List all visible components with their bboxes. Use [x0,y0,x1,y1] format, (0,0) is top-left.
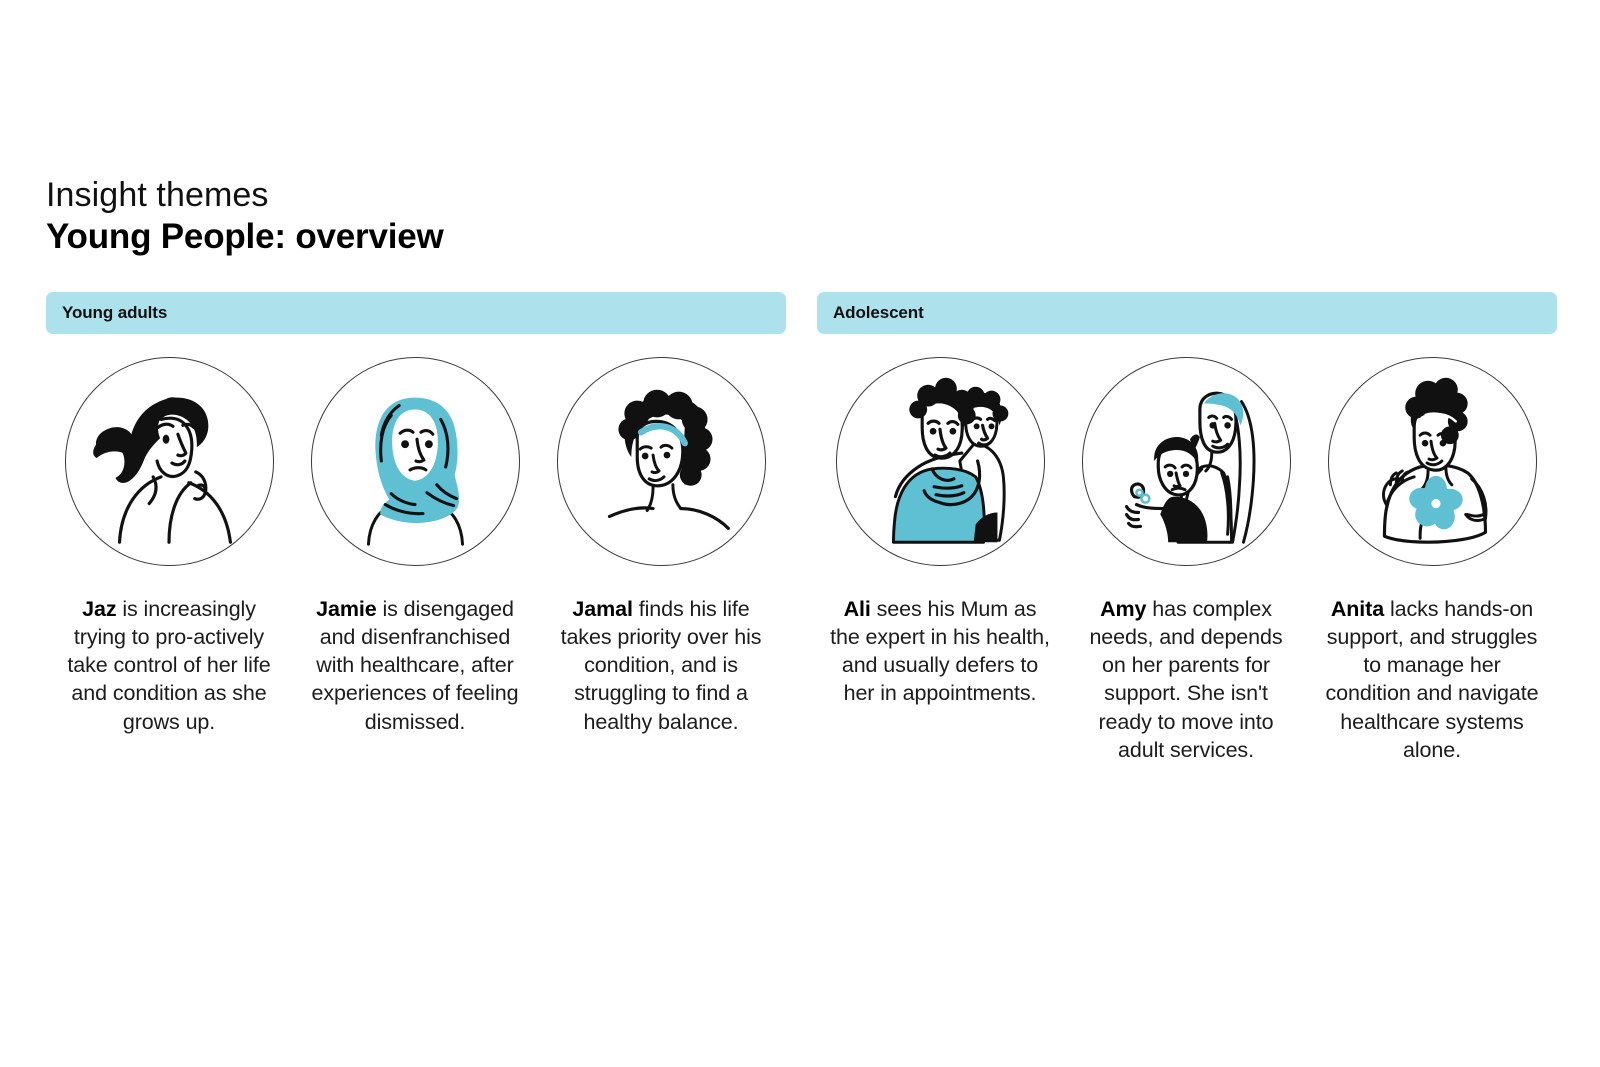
persona-card-amy[interactable]: Amy has complex needs, and depends on he… [1063,357,1309,764]
group-header-adolescent: Adolescent [817,292,1557,334]
caption-anita: Anita lacks hands-on support, and strugg… [1321,595,1543,764]
mother-and-child-avatar-icon [1083,358,1290,565]
persona-name: Ali [844,597,871,621]
persona-description: lacks hands-on support, and struggles to… [1326,597,1539,762]
person-afro-headband-avatar-icon [558,358,765,565]
caption-ali: Ali sees his Mum as the expert in his he… [829,595,1051,708]
caption-jaz: Jaz is increasingly trying to pro-active… [58,595,280,736]
eyebrow-title: Insight themes [46,176,444,214]
avatar-anita [1328,357,1537,566]
group-label: Adolescent [833,303,924,323]
persona-card-ali[interactable]: Ali sees his Mum as the expert in his he… [817,357,1063,764]
page-title-block: Insight themes Young People: overview [46,176,444,256]
woman-bun-flower-top-avatar-icon [1329,358,1536,565]
persona-card-jaz[interactable]: Jaz is increasingly trying to pro-active… [46,357,292,736]
group-young-adults: Young adults [46,292,786,736]
page-title: Young People: overview [46,217,444,256]
card-row-young-adults: Jaz is increasingly trying to pro-active… [46,357,786,736]
persona-name: Anita [1331,597,1384,621]
woman-long-wavy-hair-avatar-icon [66,358,273,565]
parent-and-child-hug-avatar-icon [837,358,1044,565]
persona-name: Jamie [316,597,376,621]
caption-jamal: Jamal finds his life takes priority over… [550,595,772,736]
caption-amy: Amy has complex needs, and depends on he… [1075,595,1297,764]
group-header-young-adults: Young adults [46,292,786,334]
avatar-amy [1082,357,1291,566]
persona-name: Jaz [82,597,116,621]
avatar-jaz [65,357,274,566]
persona-name: Amy [1100,597,1146,621]
card-row-adolescent: Ali sees his Mum as the expert in his he… [817,357,1557,764]
group-adolescent: Adolescent [817,292,1557,764]
woman-hijab-avatar-icon [312,358,519,565]
caption-jamie: Jamie is disengaged and disenfranchised … [304,595,526,736]
avatar-jamal [557,357,766,566]
group-label: Young adults [62,303,167,323]
persona-description: has complex needs, and depends on her pa… [1089,597,1282,762]
avatar-ali [836,357,1045,566]
persona-name: Jamal [572,597,632,621]
persona-card-anita[interactable]: Anita lacks hands-on support, and strugg… [1309,357,1555,764]
persona-card-jamie[interactable]: Jamie is disengaged and disenfranchised … [292,357,538,736]
persona-card-jamal[interactable]: Jamal finds his life takes priority over… [538,357,784,736]
avatar-jamie [311,357,520,566]
